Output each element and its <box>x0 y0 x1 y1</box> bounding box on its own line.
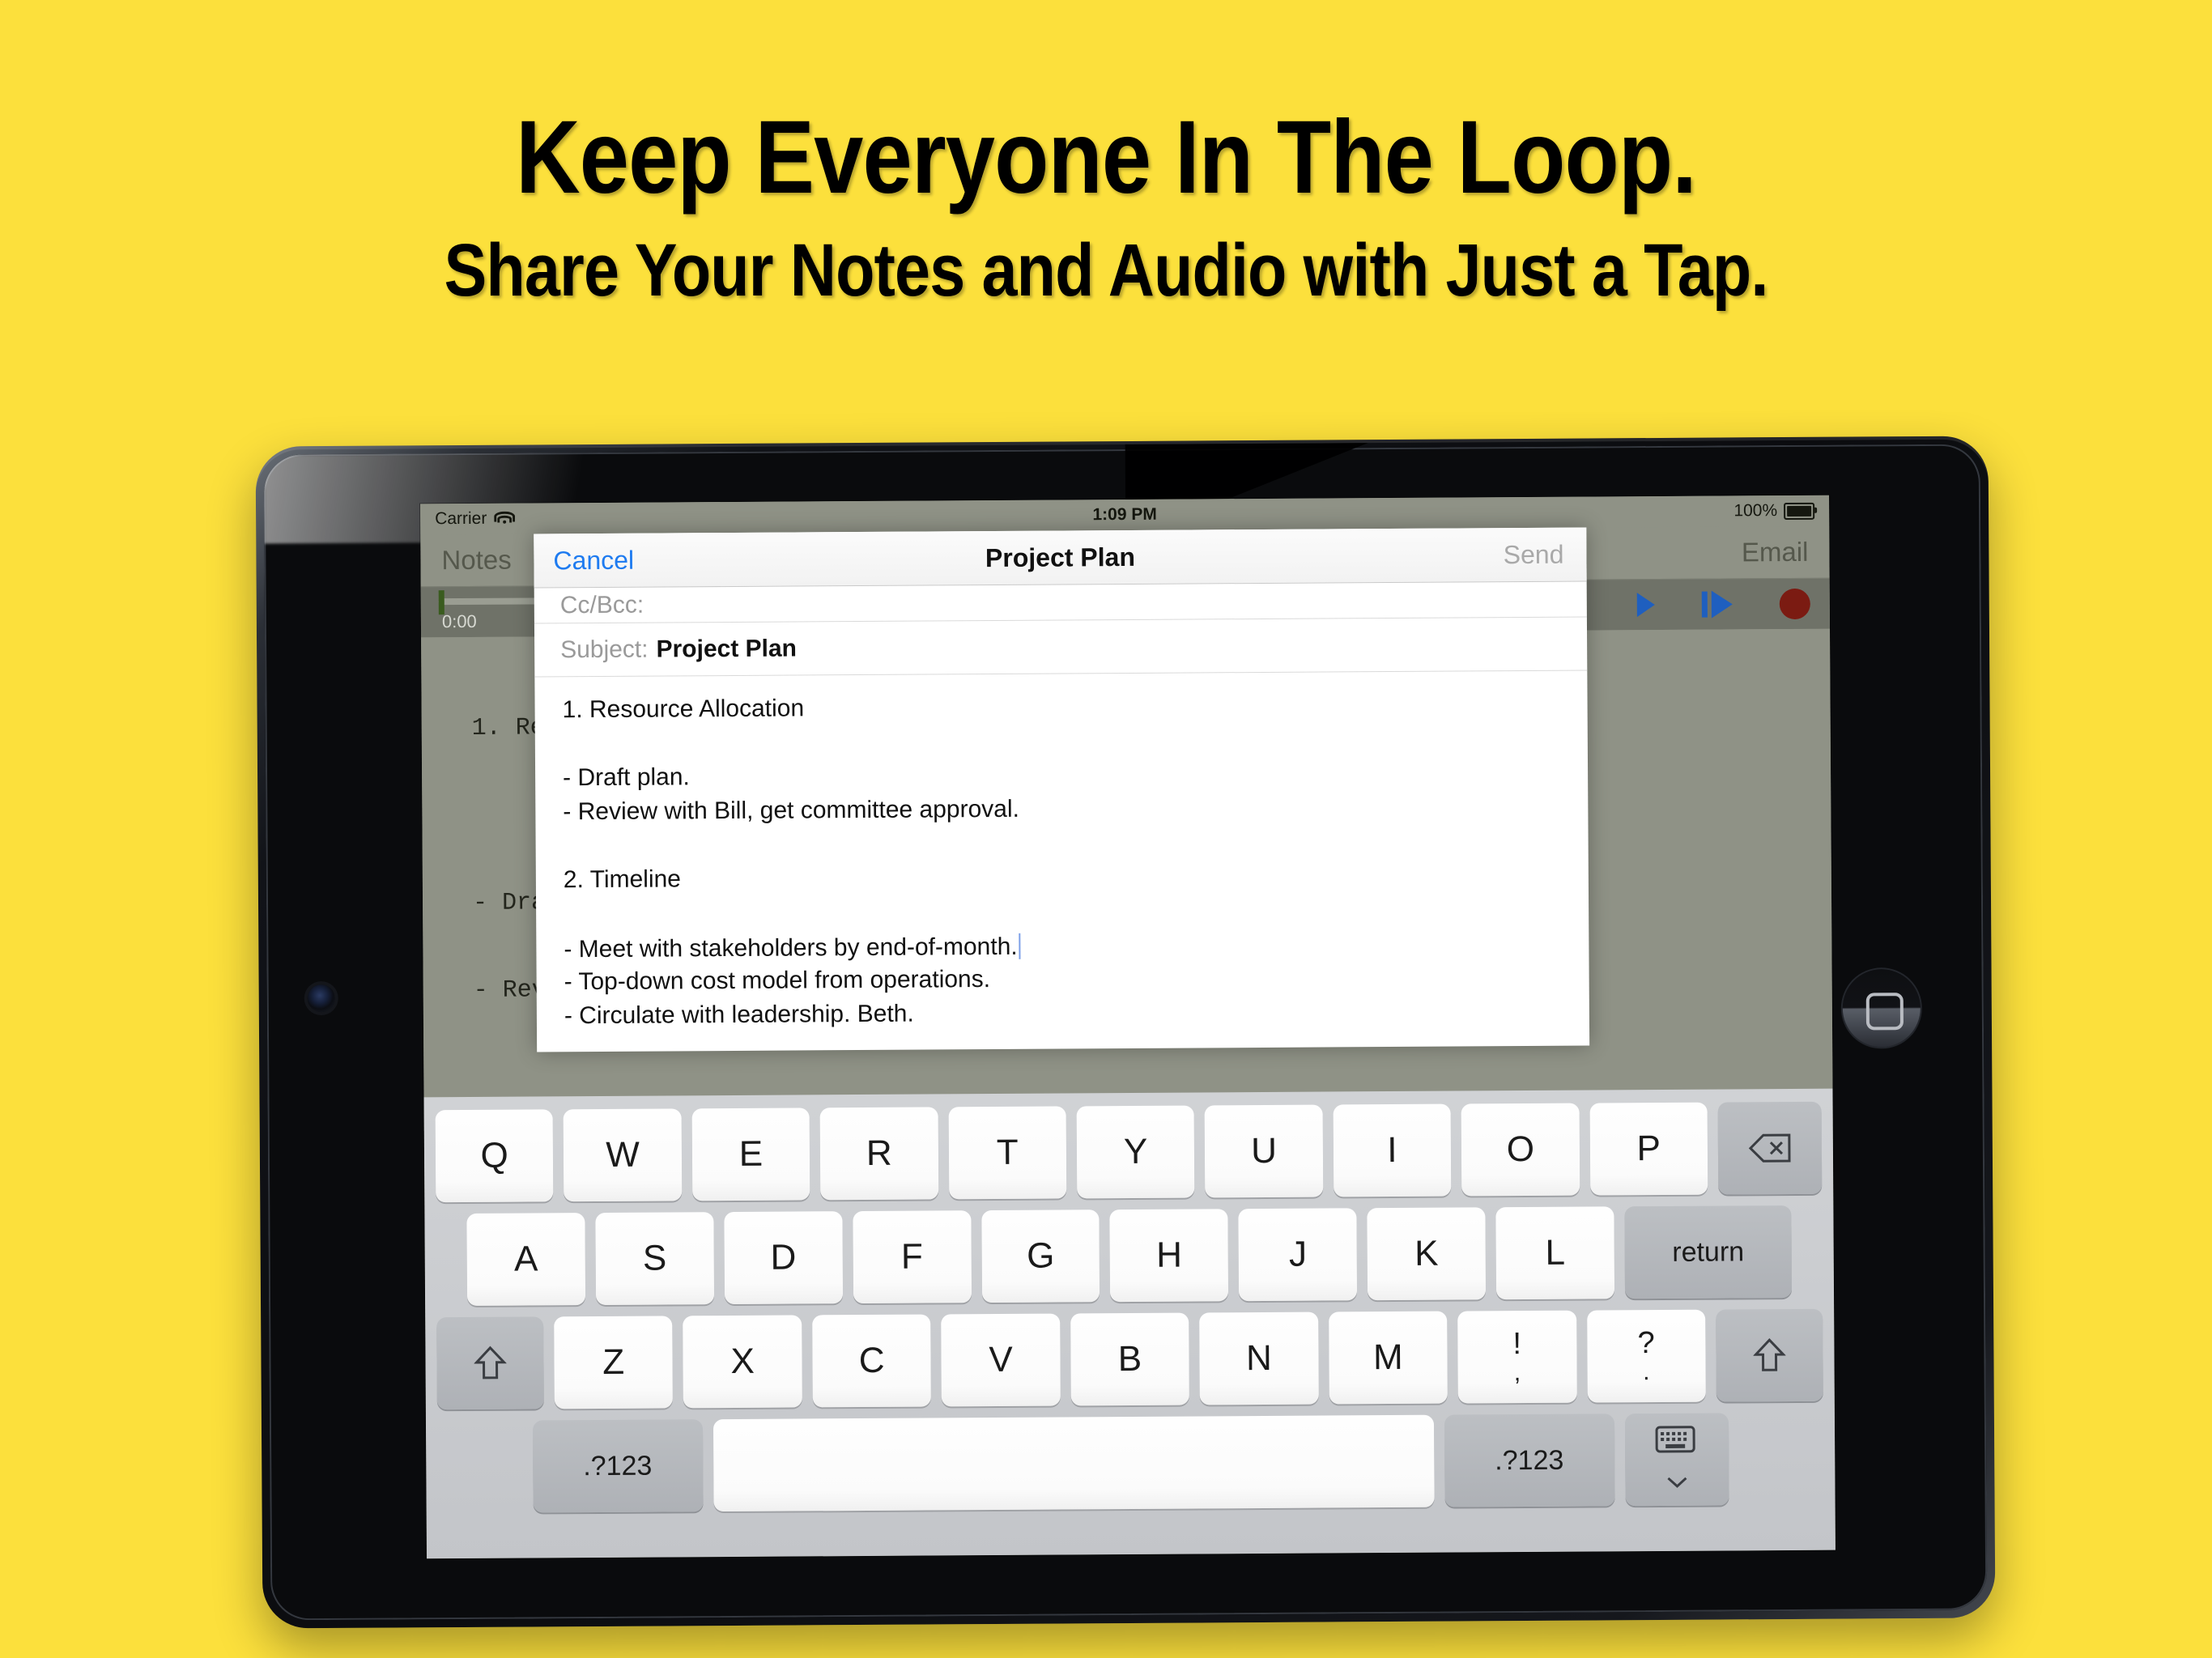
subject-field[interactable]: Subject: Project Plan <box>534 618 1587 678</box>
shift-icon <box>1753 1337 1785 1373</box>
key-a[interactable]: A <box>466 1213 585 1306</box>
key-b[interactable]: B <box>1070 1313 1189 1406</box>
key-p[interactable]: P <box>1589 1103 1708 1196</box>
key-x[interactable]: X <box>683 1315 802 1408</box>
keyboard-row-4: .?123 .?123 <box>437 1413 1824 1513</box>
email-body-line: - Meet with stakeholders by end-of-month… <box>564 933 1017 963</box>
numbers-key-right[interactable]: .?123 <box>1444 1414 1614 1507</box>
battery-full-icon <box>1784 502 1814 519</box>
email-body-line: - Review with Bill, get committee approv… <box>563 794 1560 835</box>
key-v[interactable]: V <box>942 1314 1061 1407</box>
home-button-square-icon <box>1866 993 1904 1030</box>
keyboard-row-2: A S D F G H J K L return <box>436 1205 1823 1306</box>
promo-banner: Keep Everyone In The Loop. Share Your No… <box>0 0 2212 309</box>
ccbcc-field[interactable]: Cc/Bcc: <box>534 582 1587 624</box>
key-c[interactable]: C <box>812 1314 931 1407</box>
notes-email-button[interactable]: Email <box>1742 537 1809 568</box>
email-body-line-with-caret: - Meet with stakeholders by end-of-month… <box>564 930 1561 971</box>
key-g[interactable]: G <box>981 1209 1100 1303</box>
key-t[interactable]: T <box>948 1106 1066 1199</box>
backspace-icon[interactable] <box>1718 1102 1823 1195</box>
email-body-line: - Top-down cost model from operations. <box>564 964 1562 1005</box>
numbers-key-left[interactable]: .?123 <box>532 1419 703 1512</box>
audio-timer-label: 0:00 <box>442 611 477 632</box>
key-q[interactable]: Q <box>436 1109 554 1202</box>
email-body-line-blank <box>564 828 1561 869</box>
key-f[interactable]: F <box>853 1210 972 1303</box>
key-s[interactable]: S <box>595 1212 714 1305</box>
backspace-glyph <box>1748 1133 1792 1163</box>
send-button[interactable]: Send <box>1504 539 1564 569</box>
notes-back-button[interactable]: Notes <box>441 545 511 576</box>
step-forward-icon[interactable] <box>1702 590 1733 618</box>
email-body-line-blank <box>564 896 1561 937</box>
shift-key-left[interactable] <box>436 1316 544 1409</box>
play-icon[interactable] <box>1637 593 1655 617</box>
key-n[interactable]: N <box>1199 1312 1318 1405</box>
keyboard-glyph <box>1654 1422 1698 1452</box>
key-k[interactable]: K <box>1368 1207 1487 1300</box>
return-key[interactable]: return <box>1624 1205 1792 1299</box>
key-m[interactable]: M <box>1329 1312 1448 1405</box>
key-o[interactable]: O <box>1461 1103 1580 1197</box>
key-w[interactable]: W <box>564 1108 682 1201</box>
shift-icon <box>474 1346 506 1381</box>
key-y[interactable]: Y <box>1077 1106 1195 1199</box>
status-bar-time: 1:09 PM <box>420 501 1829 529</box>
space-key[interactable] <box>713 1415 1434 1511</box>
promo-title: Keep Everyone In The Loop. <box>155 0 2057 211</box>
key-i[interactable]: I <box>1333 1104 1451 1197</box>
compose-nav-bar: Cancel Project Plan Send <box>534 528 1586 589</box>
subject-label: Subject: <box>560 636 649 664</box>
record-icon[interactable] <box>1780 589 1810 619</box>
key-question-label: ? <box>1637 1328 1654 1358</box>
key-exclam-label: ! <box>1512 1329 1521 1359</box>
email-body-line: - Circulate with leadership. Beth. <box>564 998 1562 1039</box>
key-e[interactable]: E <box>691 1107 810 1201</box>
audio-controls <box>1637 579 1810 630</box>
email-body-line-blank <box>563 726 1560 767</box>
key-exclam-comma[interactable]: ! , <box>1457 1311 1576 1404</box>
key-r[interactable]: R <box>820 1107 938 1200</box>
home-button[interactable] <box>1843 969 1921 1048</box>
email-body-line: 2. Timeline <box>564 862 1561 903</box>
key-l[interactable]: L <box>1495 1206 1614 1299</box>
keyboard-row-3: Z X C V B N M ! , ? . <box>436 1309 1823 1409</box>
email-body-line: 1. Resource Allocation <box>563 692 1560 733</box>
keyboard-row-1: Q W E R T Y U I O P <box>436 1102 1823 1202</box>
email-body-text[interactable]: 1. Resource Allocation - Draft plan. - R… <box>534 671 1589 1060</box>
key-j[interactable]: J <box>1239 1208 1358 1301</box>
status-bar-right: 100% <box>1733 501 1814 521</box>
key-d[interactable]: D <box>724 1211 843 1304</box>
ipad-screen: Carrier 1:09 PM 100% Notes Email 0:00 1.… <box>420 495 1836 1559</box>
key-h[interactable]: H <box>1110 1209 1229 1302</box>
key-question-period[interactable]: ? . <box>1587 1310 1706 1403</box>
text-cursor <box>1019 933 1021 959</box>
chevron-down-icon <box>1665 1457 1688 1498</box>
shift-key-right[interactable] <box>1716 1309 1823 1402</box>
key-u[interactable]: U <box>1205 1105 1323 1198</box>
promo-subtitle: Share Your Notes and Audio with Just a T… <box>155 211 2057 310</box>
subject-value: Project Plan <box>656 635 797 663</box>
onscreen-keyboard: Q W E R T Y U I O P A S D F G H J K L <box>424 1089 1836 1559</box>
battery-percent-label: 100% <box>1733 501 1777 521</box>
compose-title: Project Plan <box>534 539 1586 576</box>
key-comma-label: , <box>1514 1361 1521 1385</box>
front-camera-icon <box>308 984 335 1012</box>
key-z[interactable]: Z <box>554 1316 673 1409</box>
ccbcc-label: Cc/Bcc: <box>560 592 644 620</box>
email-compose-sheet: Cancel Project Plan Send Cc/Bcc: Subject… <box>534 528 1589 1052</box>
hide-keyboard-icon[interactable] <box>1624 1413 1729 1506</box>
email-body-line: - Draft plan. <box>563 760 1560 801</box>
key-period-label: . <box>1643 1360 1650 1384</box>
